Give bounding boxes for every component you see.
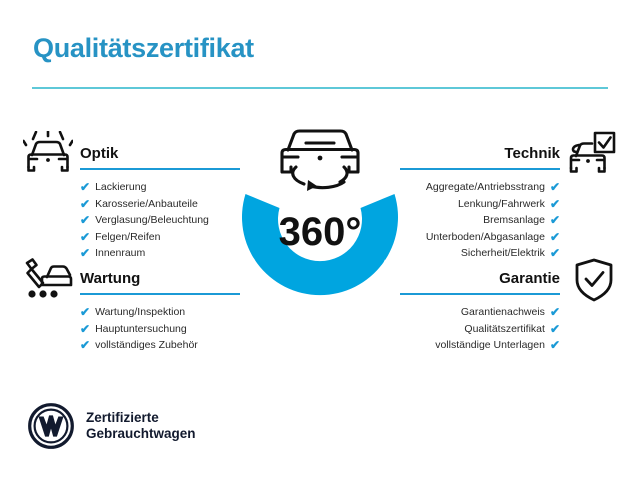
list-item: Bremsanlage✔ (400, 212, 560, 229)
list-item: Garantienachweis✔ (400, 304, 560, 321)
check-icon: ✔ (550, 323, 560, 335)
checklist: ✔Wartung/Inspektion ✔Hauptuntersuchung ✔… (80, 304, 240, 354)
check-icon: ✔ (80, 231, 90, 243)
brand-line-2: Gebrauchtwagen (86, 426, 196, 442)
car-checkbox-icon (568, 131, 616, 180)
list-item: Lenkung/Fahrwerk✔ (400, 196, 560, 213)
section-title: Technik (400, 145, 560, 163)
list-item: ✔Wartung/Inspektion (80, 304, 240, 321)
certificate-page: Qualitätszertifikat (0, 0, 640, 480)
car-rotate-icon (282, 131, 358, 191)
section-garantie: Garantie Garantienachweis✔ Qualitätszert… (400, 270, 560, 354)
section-optik: Optik ✔Lackierung ✔Karosserie/Anbauteile… (80, 145, 240, 262)
checklist: Garantienachweis✔ Qualitätszertifikat✔ v… (400, 304, 560, 354)
list-item: ✔Lackierung (80, 179, 240, 196)
section-title: Garantie (400, 270, 560, 288)
check-icon: ✔ (80, 306, 90, 318)
list-item-label: Qualitätszertifikat (464, 321, 545, 338)
list-item-label: Hauptuntersuchung (95, 321, 187, 338)
section-wartung: Wartung ✔Wartung/Inspektion ✔Hauptunters… (80, 270, 240, 354)
list-item: vollständige Unterlagen✔ (400, 337, 560, 354)
list-item: Aggregate/Antriebsstrang✔ (400, 179, 560, 196)
check-icon: ✔ (550, 247, 560, 259)
check-icon: ✔ (80, 214, 90, 226)
list-item-label: Bremsanlage (483, 212, 545, 229)
list-item-label: Wartung/Inspektion (95, 304, 185, 321)
check-icon: ✔ (80, 181, 90, 193)
list-item-label: Karosserie/Anbauteile (95, 196, 198, 213)
list-item-label: vollständige Unterlagen (435, 337, 545, 354)
shield-check-icon (574, 258, 614, 307)
section-title: Wartung (80, 270, 240, 288)
list-item: ✔Innenraum (80, 245, 240, 262)
header-divider (32, 87, 608, 89)
section-divider (400, 293, 560, 295)
vw-roundel-icon (28, 403, 74, 449)
checklist: ✔Lackierung ✔Karosserie/Anbauteile ✔Verg… (80, 179, 240, 262)
list-item-label: Lenkung/Fahrwerk (458, 196, 545, 213)
check-icon: ✔ (80, 339, 90, 351)
list-item: Unterboden/Abgasanlage✔ (400, 229, 560, 246)
section-divider (80, 168, 240, 170)
check-icon: ✔ (550, 306, 560, 318)
badge-360-gebrauchtwagen-check: Gebrauchtwagen-Check 360° (218, 112, 422, 322)
list-item: ✔vollständiges Zubehör (80, 337, 240, 354)
list-item-label: vollständiges Zubehör (95, 337, 198, 354)
list-item-label: Unterboden/Abgasanlage (426, 229, 545, 246)
section-technik: Technik Aggregate/Antriebsstrang✔ Lenkun… (400, 145, 560, 262)
page-title: Qualitätszertifikat (33, 33, 254, 64)
section-divider (400, 168, 560, 170)
list-item-label: Sicherheit/Elektrik (461, 245, 545, 262)
list-item-label: Lackierung (95, 179, 146, 196)
badge-center-label: 360° (279, 210, 362, 254)
section-divider (80, 293, 240, 295)
check-icon: ✔ (80, 198, 90, 210)
list-item-label: Verglasung/Beleuchtung (95, 212, 209, 229)
wrench-car-icon (23, 257, 73, 306)
list-item: Qualitätszertifikat✔ (400, 321, 560, 338)
check-icon: ✔ (550, 214, 560, 226)
list-item-label: Felgen/Reifen (95, 229, 160, 246)
section-title: Optik (80, 145, 240, 163)
brand-line-1: Zertifizierte (86, 410, 196, 426)
list-item-label: Innenraum (95, 245, 145, 262)
check-icon: ✔ (550, 181, 560, 193)
list-item-label: Aggregate/Antriebsstrang (426, 179, 545, 196)
checklist: Aggregate/Antriebsstrang✔ Lenkung/Fahrwe… (400, 179, 560, 262)
check-icon: ✔ (80, 323, 90, 335)
list-item: ✔Hauptuntersuchung (80, 321, 240, 338)
brand-lockup: Zertifizierte Gebrauchtwagen (28, 403, 196, 449)
check-icon: ✔ (550, 339, 560, 351)
check-icon: ✔ (550, 231, 560, 243)
list-item: Sicherheit/Elektrik✔ (400, 245, 560, 262)
list-item: ✔Karosserie/Anbauteile (80, 196, 240, 213)
list-item-label: Garantienachweis (461, 304, 545, 321)
car-shine-icon (23, 131, 73, 178)
check-icon: ✔ (550, 198, 560, 210)
check-icon: ✔ (80, 247, 90, 259)
list-item: ✔Verglasung/Beleuchtung (80, 212, 240, 229)
list-item: ✔Felgen/Reifen (80, 229, 240, 246)
